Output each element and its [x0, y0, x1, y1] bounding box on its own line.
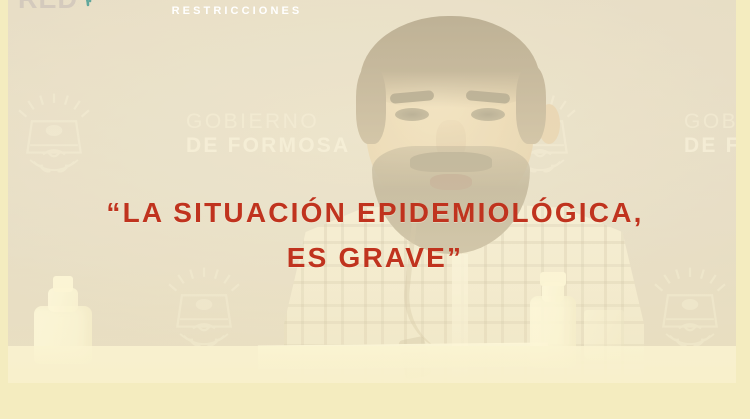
hair-side-left: [356, 66, 386, 144]
coat-of-arms-icon: [8, 88, 100, 184]
backdrop-branding-text: GOBIERNO DE FORMOSA: [684, 110, 736, 157]
video-frame: GOBIERNO DE FORMOSA GOBIERNO DE FORMOSA: [0, 0, 750, 419]
backdrop-branding-line1: GOBIERNO: [684, 110, 736, 133]
mouth: [430, 174, 472, 190]
backdrop-branding-line2: DE FORMOSA: [684, 134, 736, 158]
headline-line-1: “LA SITUACIÓN EPIDEMIOLÓGICA,: [106, 197, 643, 228]
table-surface: [8, 346, 736, 386]
eye-left: [395, 108, 429, 121]
speaker-hair: [360, 16, 540, 108]
channel-logo: RED: [18, 0, 110, 24]
signal-arc-icon: [70, 0, 110, 20]
headline-quote: “LA SITUACIÓN EPIDEMIOLÓGICA, ES GRAVE”: [0, 190, 750, 281]
bottom-caption-band: [0, 383, 750, 419]
hair-side-right: [516, 66, 546, 144]
mustache: [410, 152, 492, 172]
eye-right: [471, 108, 505, 121]
logo-wordmark: RED: [18, 0, 78, 15]
headline-line-2: ES GRAVE”: [0, 235, 750, 280]
kicker-label: RESTRICCIONES: [157, 5, 317, 17]
